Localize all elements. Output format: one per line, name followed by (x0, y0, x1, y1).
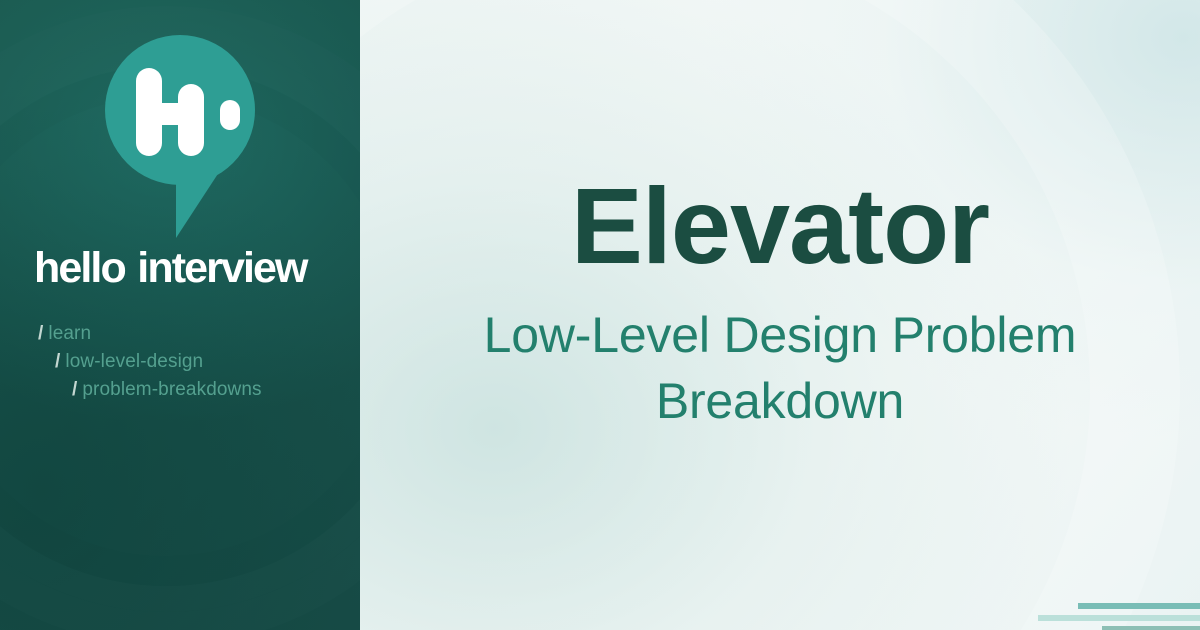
page-subtitle: Low-Level Design Problem Breakdown (390, 302, 1170, 434)
hello-interview-logo[interactable] (105, 35, 255, 240)
breadcrumb: /learn /low-level-design /problem-breakd… (0, 320, 360, 404)
og-share-card: hello interview /learn /low-level-design… (0, 0, 1200, 630)
breadcrumb-separator: / (55, 351, 60, 372)
brand-panel: hello interview /learn /low-level-design… (0, 0, 360, 630)
brand-wordmark[interactable]: hello interview (34, 247, 334, 290)
wordmark-interview: interview (137, 244, 306, 292)
breadcrumb-label: low-level-design (65, 351, 203, 372)
content-panel: Elevator Low-Level Design Problem Breakd… (360, 0, 1200, 630)
accent-line-3 (1102, 626, 1200, 630)
breadcrumb-separator: / (38, 323, 43, 344)
breadcrumb-label: problem-breakdowns (82, 379, 261, 400)
breadcrumb-item-problem-breakdowns[interactable]: /problem-breakdowns (0, 376, 360, 404)
accent-line-2 (1038, 615, 1200, 621)
accent-line-1 (1078, 603, 1200, 609)
breadcrumb-separator: / (72, 379, 77, 400)
breadcrumb-item-learn[interactable]: /learn (0, 320, 360, 348)
breadcrumb-label: learn (48, 323, 91, 344)
corner-accent-lines (940, 582, 1200, 630)
wordmark-hello: hello (34, 244, 125, 292)
breadcrumb-item-low-level-design[interactable]: /low-level-design (0, 348, 360, 376)
page-title: Elevator (390, 172, 1170, 280)
speech-bubble-logo-icon (105, 35, 255, 240)
